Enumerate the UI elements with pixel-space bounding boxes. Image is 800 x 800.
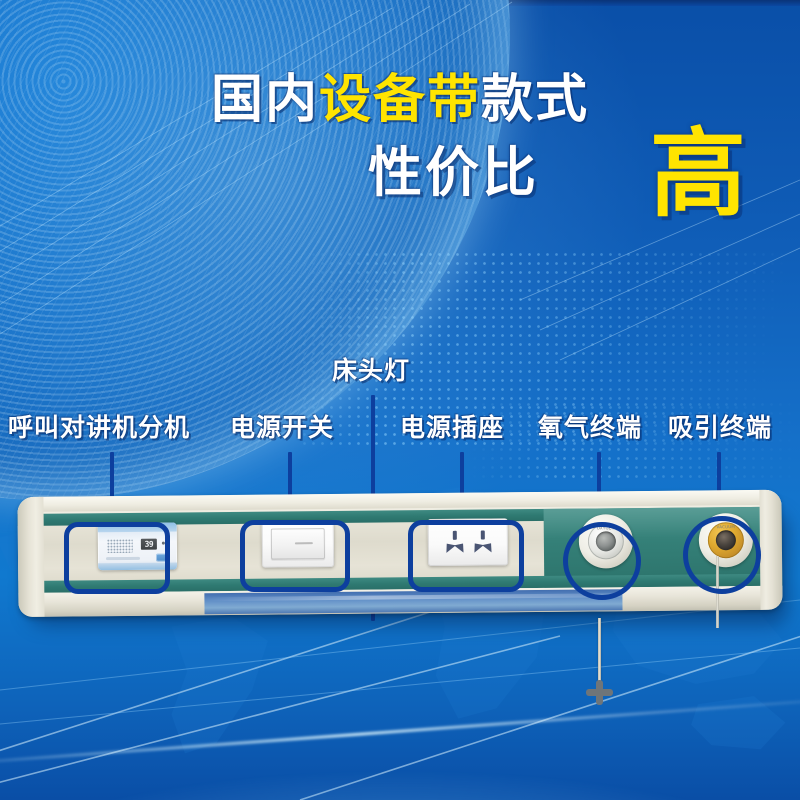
callout-label-bed-lamp[interactable]: 床头灯 bbox=[332, 358, 410, 383]
callout-label-power-switch[interactable]: 电源开关 bbox=[230, 415, 334, 440]
headline-block: 国内设备带款式 性价比 高 bbox=[0, 74, 800, 236]
highlight-box-intercom[interactable] bbox=[64, 522, 170, 594]
bed-lamp-pull-cord bbox=[598, 618, 601, 686]
headline-word-style: 款式 bbox=[481, 70, 589, 130]
highlight-box-power-socket[interactable] bbox=[408, 520, 524, 592]
callout-label-power-socket[interactable]: 电源插座 bbox=[400, 415, 504, 440]
banner-stage: 国内设备带款式 性价比 高 呼叫对讲机分机 电源开关 床头灯 电源插座 氧气终端… bbox=[0, 0, 800, 800]
callout-label-suction-terminal[interactable]: 吸引终端 bbox=[668, 415, 772, 440]
highlight-circle-oxygen-terminal[interactable] bbox=[563, 522, 641, 600]
headline-line-2-wrapper: 性价比 高 bbox=[0, 140, 800, 236]
highlight-circle-suction-terminal[interactable] bbox=[683, 516, 761, 594]
headline-big-word-high: 高 bbox=[650, 126, 746, 222]
panel-end-cap-left bbox=[17, 497, 44, 617]
highlight-box-power-switch[interactable] bbox=[240, 520, 350, 592]
headline-line-1: 国内设备带款式 bbox=[211, 74, 589, 126]
callout-label-oxygen-terminal[interactable]: 氧气终端 bbox=[538, 415, 642, 440]
headline-word-equipment-belt: 设备带 bbox=[319, 70, 481, 130]
headline-word-domestic: 国内 bbox=[211, 70, 319, 130]
pull-cord-connector-icon bbox=[586, 680, 613, 705]
connector-horizontal-bar bbox=[586, 689, 613, 696]
panel-end-cap-right bbox=[759, 490, 782, 610]
callout-label-nurse-call-intercom[interactable]: 呼叫对讲机分机 bbox=[8, 415, 190, 440]
headline-value-for-money: 性价比 bbox=[368, 146, 539, 200]
